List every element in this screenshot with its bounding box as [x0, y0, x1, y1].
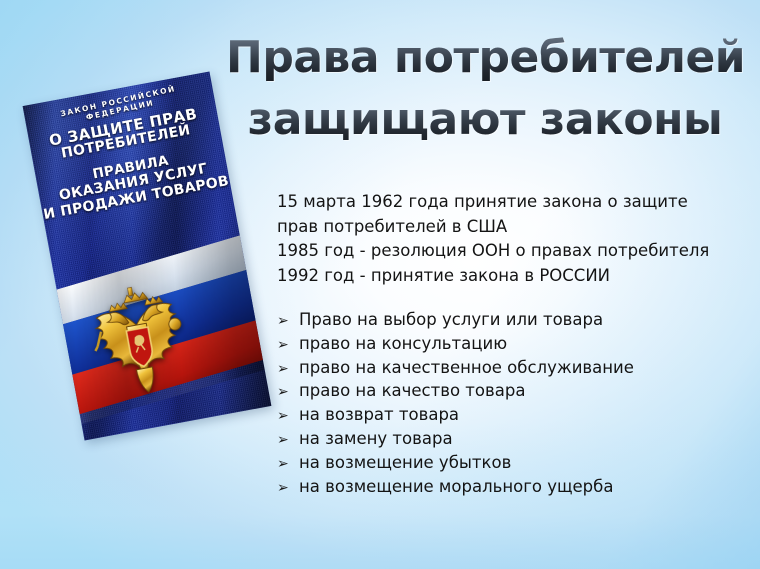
arrowhead-bullet-icon: ➢ [277, 358, 299, 382]
list-item-label: право на консультацию [299, 332, 507, 356]
arrowhead-bullet-icon: ➢ [277, 477, 299, 501]
russian-double-headed-eagle-icon [78, 276, 200, 403]
title-line-1-reflection: Права потребителей [226, 35, 744, 81]
title-line-1: Права потребителей Права потребителей [226, 33, 744, 89]
list-item: ➢ право на качественное обслуживание [277, 356, 745, 380]
slide-title: Права потребителей Права потребителей за… [226, 33, 744, 165]
presentation-slide: ЗАКОН РОССИЙСКОЙ ФЕДЕРАЦИИ О ЗАЩИТЕ ПРАВ… [0, 0, 760, 569]
list-item-label: на замену товара [299, 427, 453, 451]
paragraph-line: 1985 год - резолюция ООН о правах потреб… [277, 239, 745, 264]
list-item-label: Право на выбор услуги или товара [299, 308, 603, 332]
title-line-2: защищают законы защищают законы [226, 95, 744, 151]
list-item-label: право на качественное обслуживание [299, 356, 634, 380]
list-item-label: право на качество товара [299, 379, 525, 403]
arrowhead-bullet-icon: ➢ [277, 381, 299, 405]
list-item: ➢ на замену товара [277, 427, 745, 451]
arrowhead-bullet-icon: ➢ [277, 310, 299, 334]
list-item: ➢ на возврат товара [277, 403, 745, 427]
body-paragraphs: 15 марта 1962 года принятие закона о защ… [277, 190, 745, 288]
title-line-2-reflection: защищают законы [226, 97, 744, 143]
arrowhead-bullet-icon: ➢ [277, 429, 299, 453]
list-item: ➢ на возмещение убытков [277, 451, 745, 475]
paragraph-line: 1992 год - принятие закона в РОССИИ [277, 264, 745, 289]
list-item: ➢ право на консультацию [277, 332, 745, 356]
list-item: ➢ на возмещение морального ущерба [277, 475, 745, 499]
list-item-label: на возврат товара [299, 403, 459, 427]
rights-bullet-list: ➢ Право на выбор услуги или товара ➢ пра… [277, 308, 745, 498]
arrowhead-bullet-icon: ➢ [277, 453, 299, 477]
list-item: ➢ Право на выбор услуги или товара [277, 308, 745, 332]
list-item: ➢ право на качество товара [277, 379, 745, 403]
paragraph-line: прав потребителей в США [277, 215, 745, 240]
list-item-label: на возмещение убытков [299, 451, 511, 475]
list-item-label: на возмещение морального ущерба [299, 475, 613, 499]
arrowhead-bullet-icon: ➢ [277, 405, 299, 429]
arrowhead-bullet-icon: ➢ [277, 334, 299, 358]
paragraph-line: 15 марта 1962 года принятие закона о защ… [277, 190, 745, 215]
